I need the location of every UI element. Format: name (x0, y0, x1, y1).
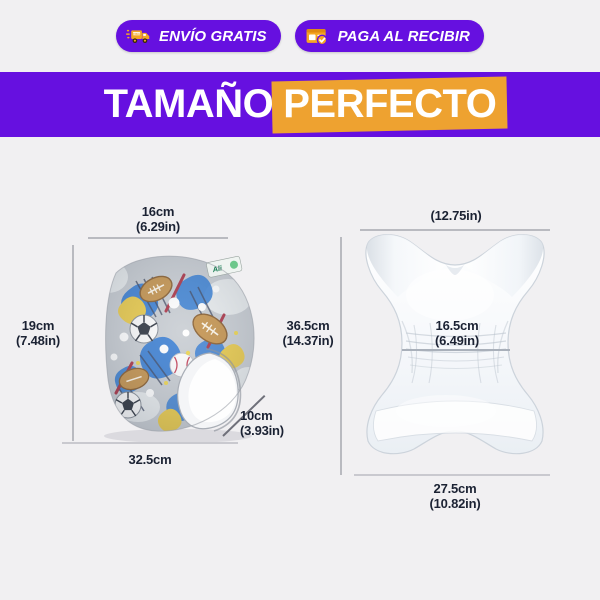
left-side-measurement: 19cm (7.48in) (6, 319, 70, 348)
right-middle-in: (6.49in) (414, 334, 500, 349)
promo-badge-bar: FREE ENVÍO GRATIS (0, 0, 600, 72)
right-middle-cm: 16.5cm (436, 318, 479, 333)
product-size-infographic: FREE ENVÍO GRATIS (0, 0, 600, 600)
right-side-measurement: 36.5cm (14.37in) (276, 319, 340, 348)
pay-on-delivery-icon (305, 26, 331, 46)
left-product-panel: Ali 16cm (6.29in) 19cm (7.48in) 10 (0, 137, 300, 600)
left-side-cm: 19cm (22, 318, 54, 333)
right-middle-rule (402, 349, 510, 351)
left-bottom-cm: 32.5cm (129, 452, 172, 467)
left-depth-measurement: 10cm (3.93in) (240, 409, 302, 438)
badge-pay-on-delivery-label: PAGA AL RECIBIR (338, 28, 470, 45)
title-banner: TAMAÑO PERFECTO (0, 72, 600, 137)
left-depth-cm: 10cm (240, 408, 272, 423)
right-product-panel: (12.75in) 36.5cm (14.37in) 16.5cm (6.49i… (300, 137, 600, 600)
right-bottom-cm: 27.5cm (434, 481, 477, 496)
banner-word-highlighted: PERFECTO (283, 82, 496, 126)
size-comparison-area: Ali 16cm (6.29in) 19cm (7.48in) 10 (0, 137, 600, 600)
left-top-rule (88, 237, 228, 239)
svg-text:FREE: FREE (133, 32, 140, 36)
badge-free-shipping[interactable]: FREE ENVÍO GRATIS (116, 20, 281, 52)
right-middle-measurement: 16.5cm (6.49in) (414, 319, 500, 348)
right-bottom-rule (354, 474, 550, 476)
right-side-cm: 36.5cm (287, 318, 330, 333)
left-side-in: (7.48in) (6, 334, 70, 349)
right-top-in: (12.75in) (416, 209, 496, 224)
badge-free-shipping-label: ENVÍO GRATIS (159, 28, 267, 45)
right-top-measurement: (12.75in) (416, 209, 496, 224)
left-bottom-measurement: 32.5cm (108, 453, 192, 468)
right-top-rule (360, 229, 550, 231)
right-bottom-measurement: 27.5cm (10.82in) (412, 482, 498, 511)
delivery-truck-icon: FREE (126, 26, 152, 46)
left-side-rule (72, 245, 74, 441)
badge-pay-on-delivery[interactable]: PAGA AL RECIBIR (295, 20, 484, 52)
left-top-measurement: 16cm (6.29in) (118, 205, 198, 234)
right-bottom-in: (10.82in) (412, 497, 498, 512)
right-side-rule (340, 237, 342, 475)
left-top-cm: 16cm (142, 204, 174, 219)
right-side-in: (14.37in) (276, 334, 340, 349)
banner-word-plain: TAMAÑO (104, 84, 274, 124)
left-depth-in: (3.93in) (240, 424, 302, 439)
left-bottom-rule (62, 442, 238, 444)
left-top-in: (6.29in) (118, 220, 198, 235)
